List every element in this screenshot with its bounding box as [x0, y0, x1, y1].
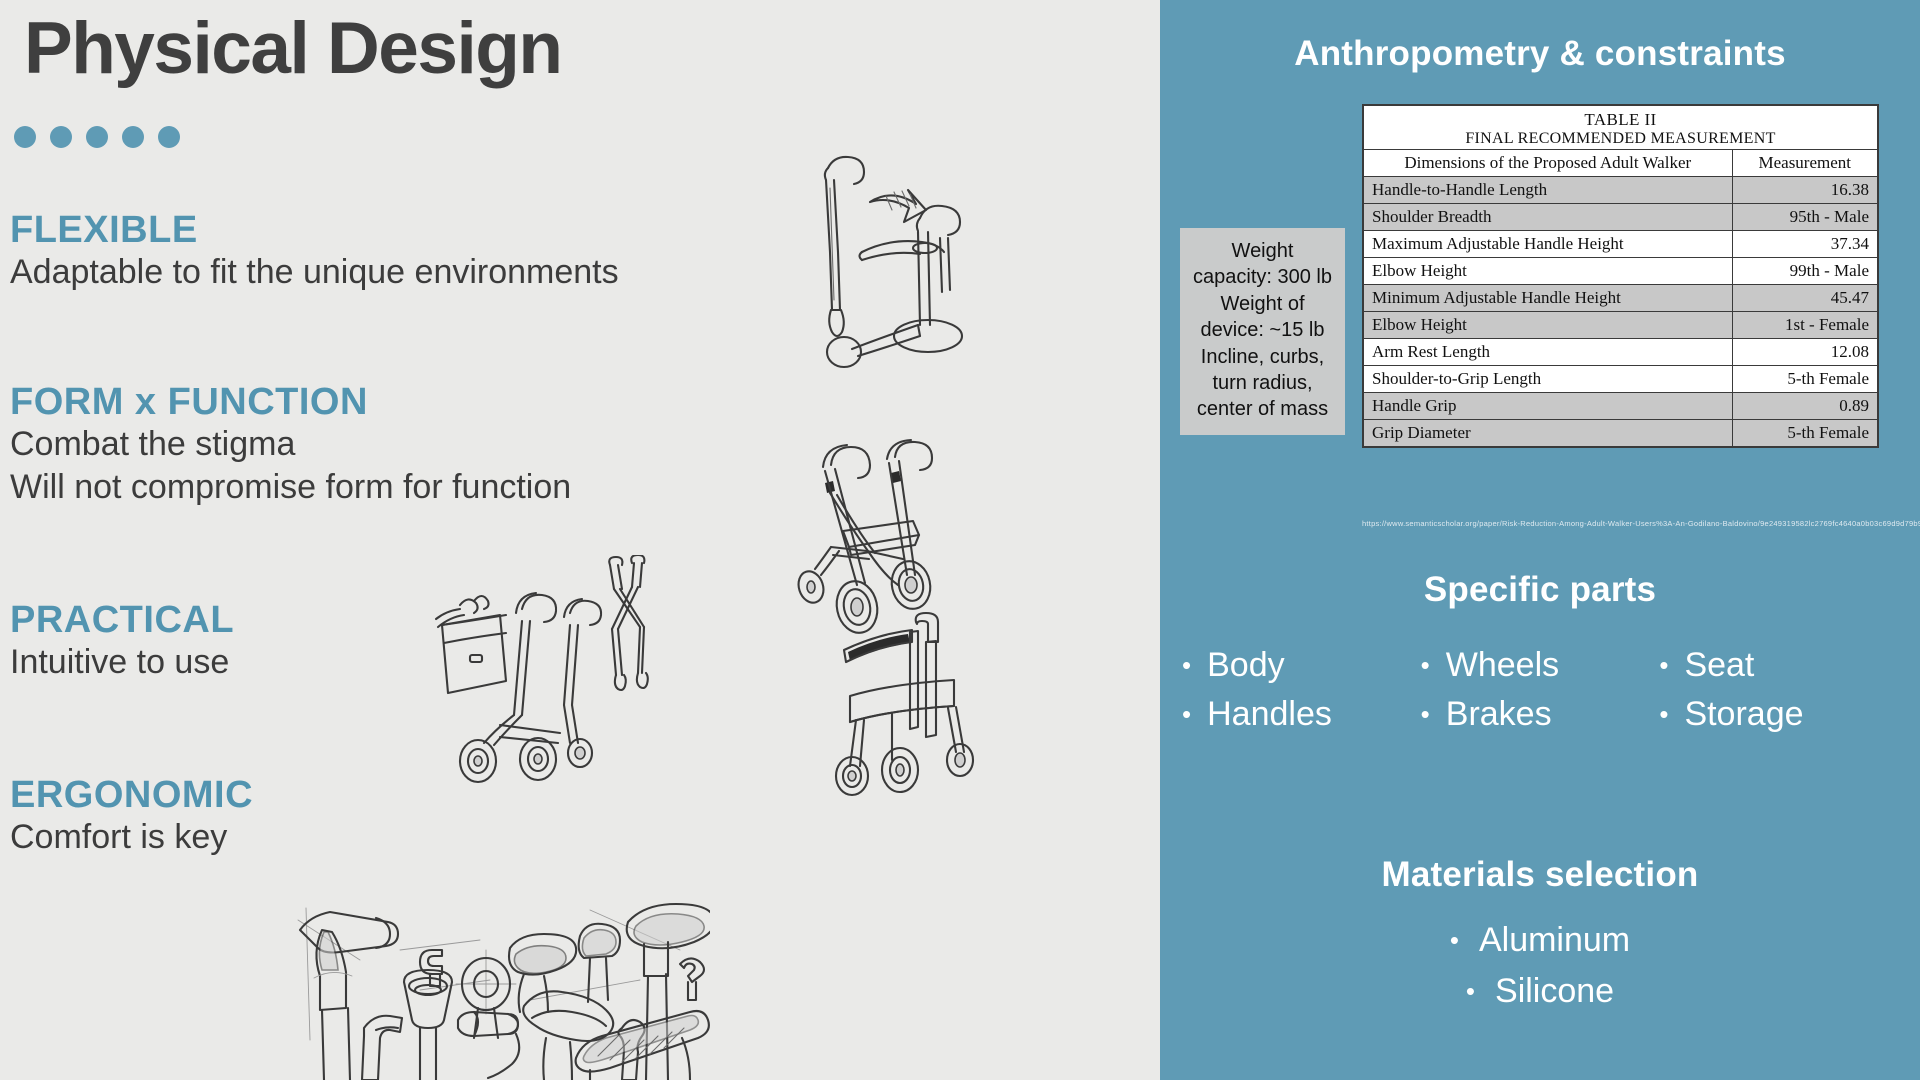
row-value: 5-th Female: [1732, 420, 1877, 447]
row-value: 16.38: [1732, 177, 1877, 204]
bullet-icon: •: [1466, 978, 1475, 1004]
cane-and-standing-cane-sketch: [800, 140, 1010, 370]
row-name: Minimum Adjustable Handle Height: [1364, 285, 1732, 312]
list-item-label: Handles: [1207, 694, 1332, 735]
row-value: 0.89: [1732, 393, 1877, 420]
list-item-label: Body: [1207, 645, 1285, 686]
feature-line-form-function-2: Will not compromise form for function: [10, 466, 571, 509]
specific-parts-title: Specific parts: [1160, 570, 1920, 610]
dot-3: [86, 126, 108, 148]
list-item: • Wheels: [1421, 645, 1660, 686]
table-row: Shoulder-to-Grip Length 5-th Female: [1364, 366, 1877, 393]
bullet-icon: •: [1450, 927, 1459, 953]
list-item: • Seat: [1659, 645, 1898, 686]
row-name: Elbow Height: [1364, 312, 1732, 339]
dot-1: [14, 126, 36, 148]
right-blue-pane: Anthropometry & constraints Weight capac…: [1160, 0, 1920, 1080]
list-item: • Aluminum: [1160, 920, 1920, 961]
list-item-label: Wheels: [1446, 645, 1559, 686]
row-name: Handle Grip: [1364, 393, 1732, 420]
feature-line-practical-1: Intuitive to use: [10, 641, 234, 684]
left-content-pane: Physical Design FLEXIBLE Adaptable to fi…: [0, 0, 1160, 1080]
table-row: Elbow Height 1st - Female: [1364, 312, 1877, 339]
list-item: • Handles: [1182, 694, 1421, 735]
bullet-icon: •: [1182, 701, 1191, 727]
table-row: Shoulder Breadth 95th - Male: [1364, 204, 1877, 231]
dot-4: [122, 126, 144, 148]
row-name: Grip Diameter: [1364, 420, 1732, 447]
walker-with-bag-sketch: [430, 565, 660, 795]
list-item: • Body: [1182, 645, 1421, 686]
feature-line-ergonomic-1: Comfort is key: [10, 816, 253, 859]
weight-line-5: Incline, curbs,: [1186, 344, 1339, 370]
slide-root: Physical Design FLEXIBLE Adaptable to fi…: [0, 0, 1920, 1080]
table-row: Handle Grip 0.89: [1364, 393, 1877, 420]
row-value: 45.47: [1732, 285, 1877, 312]
row-name: Handle-to-Handle Length: [1364, 177, 1732, 204]
bullet-icon: •: [1659, 652, 1668, 678]
row-name: Shoulder-to-Grip Length: [1364, 366, 1732, 393]
list-item-label: Aluminum: [1479, 920, 1630, 961]
walker-with-seat-sketch: [830, 610, 1000, 800]
weight-line-7: center of mass: [1186, 396, 1339, 422]
feature-heading-ergonomic: ERGONOMIC: [10, 775, 253, 816]
materials-selection-title: Materials selection: [1160, 855, 1920, 895]
table-caption-line-1: TABLE II: [1364, 110, 1877, 130]
feature-heading-form-function: FORM x FUNCTION: [10, 382, 571, 423]
dot-5: [158, 126, 180, 148]
feature-heading-practical: PRACTICAL: [10, 600, 234, 641]
table-header-dimensions: Dimensions of the Proposed Adult Walker: [1364, 150, 1732, 177]
weight-constraints-box: Weight capacity: 300 lb Weight of device…: [1180, 228, 1345, 435]
bullet-icon: •: [1421, 701, 1430, 727]
row-value: 12.08: [1732, 339, 1877, 366]
table-source-url: https://www.semanticscholar.org/paper/Ri…: [1362, 519, 1920, 528]
rollator-walker-sketch: [795, 435, 975, 650]
feature-line-form-function-1: Combat the stigma: [10, 423, 571, 466]
list-item-label: Seat: [1684, 645, 1754, 686]
feature-line-flexible-1: Adaptable to fit the unique environments: [10, 251, 619, 294]
table-header-row: Dimensions of the Proposed Adult Walker …: [1364, 150, 1877, 177]
table-row: Grip Diameter 5-th Female: [1364, 420, 1877, 447]
row-value: 37.34: [1732, 231, 1877, 258]
row-value: 1st - Female: [1732, 312, 1877, 339]
weight-line-4: device: ~15 lb: [1186, 317, 1339, 343]
table-row: Minimum Adjustable Handle Height 45.47: [1364, 285, 1877, 312]
anthropometry-title: Anthropometry & constraints: [1160, 34, 1920, 74]
feature-block-ergonomic: ERGONOMIC Comfort is key: [10, 775, 253, 859]
weight-line-2: capacity: 300 lb: [1186, 264, 1339, 290]
table-row: Arm Rest Length 12.08: [1364, 339, 1877, 366]
list-item: • Storage: [1659, 694, 1898, 735]
table-row: Elbow Height 99th - Male: [1364, 258, 1877, 285]
specific-parts-list: • Body • Wheels • Seat • Handles • Brake…: [1160, 645, 1920, 735]
feature-heading-flexible: FLEXIBLE: [10, 210, 619, 251]
folded-walker-sketch: [590, 555, 660, 695]
row-name: Shoulder Breadth: [1364, 204, 1732, 231]
table-header-measurement: Measurement: [1732, 150, 1877, 177]
decorative-dots: [14, 126, 180, 148]
row-value: 99th - Male: [1732, 258, 1877, 285]
weight-line-6: turn radius,: [1186, 370, 1339, 396]
list-item-label: Storage: [1684, 694, 1803, 735]
table-row: Maximum Adjustable Handle Height 37.34: [1364, 231, 1877, 258]
row-name: Arm Rest Length: [1364, 339, 1732, 366]
table-caption: TABLE II FINAL RECOMMENDED MEASUREMENT: [1364, 106, 1877, 149]
row-value: 5-th Female: [1732, 366, 1877, 393]
materials-list: • Aluminum • Silicone: [1160, 920, 1920, 1022]
weight-line-3: Weight of: [1186, 291, 1339, 317]
list-item-label: Brakes: [1446, 694, 1552, 735]
bullet-icon: •: [1182, 652, 1191, 678]
measurement-table: TABLE II FINAL RECOMMENDED MEASUREMENT D…: [1362, 104, 1879, 448]
list-item: • Brakes: [1421, 694, 1660, 735]
feature-block-form-function: FORM x FUNCTION Combat the stigma Will n…: [10, 382, 571, 509]
row-name: Elbow Height: [1364, 258, 1732, 285]
row-name: Maximum Adjustable Handle Height: [1364, 231, 1732, 258]
measurement-table-grid: Dimensions of the Proposed Adult Walker …: [1364, 149, 1877, 446]
dot-2: [50, 126, 72, 148]
table-caption-line-2: FINAL RECOMMENDED MEASUREMENT: [1364, 130, 1877, 148]
table-row: Handle-to-Handle Length 16.38: [1364, 177, 1877, 204]
bullet-icon: •: [1421, 652, 1430, 678]
row-value: 95th - Male: [1732, 204, 1877, 231]
feature-block-flexible: FLEXIBLE Adaptable to fit the unique env…: [10, 210, 619, 294]
bullet-icon: •: [1659, 701, 1668, 727]
table-body: Handle-to-Handle Length 16.38 Shoulder B…: [1364, 177, 1877, 447]
handle-grip-concepts-sketch: [280, 890, 710, 1080]
list-item: • Silicone: [1160, 971, 1920, 1012]
list-item-label: Silicone: [1495, 971, 1614, 1012]
weight-line-1: Weight: [1186, 238, 1339, 264]
feature-block-practical: PRACTICAL Intuitive to use: [10, 600, 234, 684]
page-title: Physical Design: [24, 12, 561, 85]
